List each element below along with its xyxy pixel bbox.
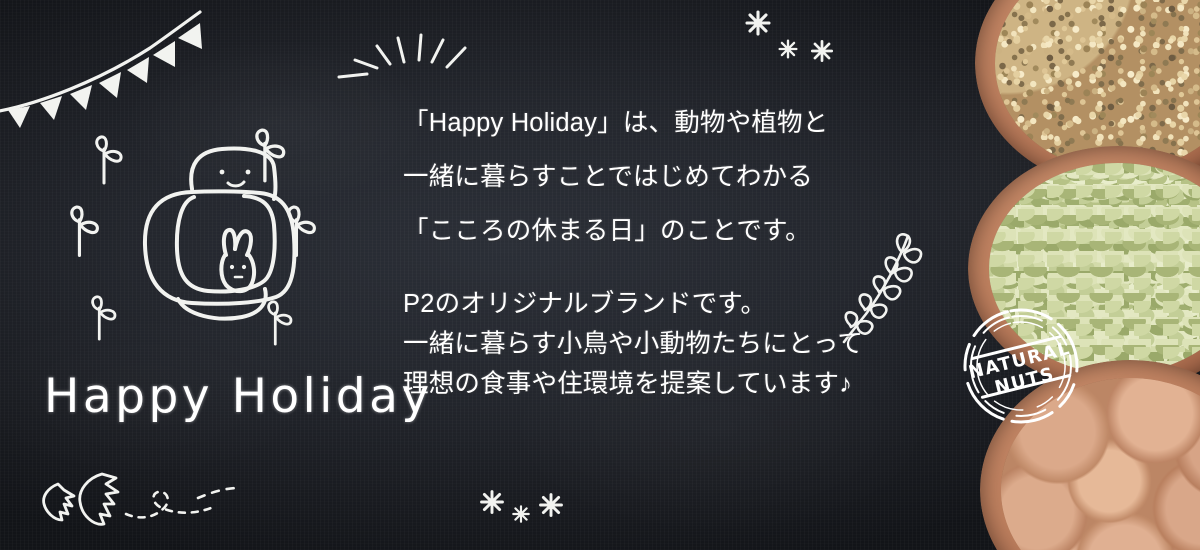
paragraph-2-line-3: 理想の食事や住環境を提案しています♪ — [403, 364, 923, 404]
mixed-seeds-texture — [995, 0, 1200, 171]
logo-wordmark: Happy Holiday — [44, 369, 433, 424]
bird-with-rabbit-doodle — [130, 137, 320, 327]
copy-block: 「Happy Holiday」は、動物や植物と 一緒に暮らすことではじめてわかる… — [403, 96, 923, 404]
paragraph-1-line-3: 「こころの休まる日」のことです。 — [403, 204, 923, 258]
sunburst-lines-doodle — [335, 22, 485, 92]
paragraph-2: P2のオリジナルブランドです。 一緒に暮らす小鳥や小動物たちにとって 理想の食事… — [403, 284, 923, 404]
paragraph-1-line-1: 「Happy Holiday」は、動物や植物と — [403, 96, 923, 150]
bowl-inner — [995, 0, 1200, 171]
paragraph-1: 「Happy Holiday」は、動物や植物と 一緒に暮らすことではじめてわかる… — [403, 96, 923, 258]
paragraph-2-line-1: P2のオリジナルブランドです。 — [403, 284, 923, 324]
angelfish-doodle — [30, 470, 260, 540]
bunting-flags-doodle — [0, 0, 250, 120]
paragraph-1-line-2: 一緒に暮らすことではじめてわかる — [403, 150, 923, 204]
happy-holiday-banner: Happy Holiday — [0, 0, 1200, 550]
sparkle-icon — [740, 5, 850, 65]
sparkle-icon — [470, 482, 600, 542]
paragraph-2-line-2: 一緒に暮らす小鳥や小動物たちにとって — [403, 324, 923, 364]
logo-wordmark-text: Happy Holiday — [44, 369, 433, 424]
